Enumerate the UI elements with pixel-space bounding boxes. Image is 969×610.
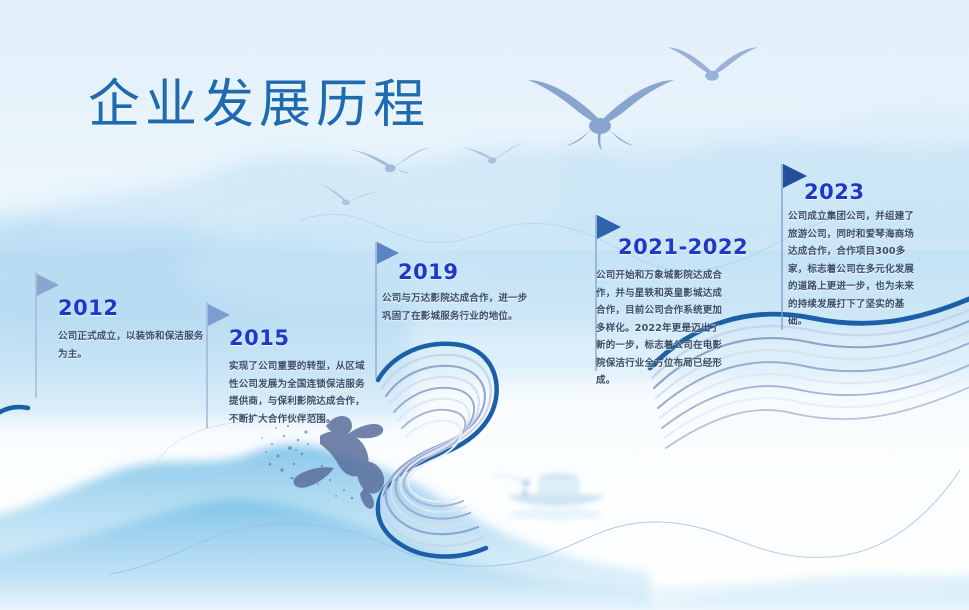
- milestone-desc-2021-2022: 公司开始和万象城影院达成合作，并与星轶和英皇影城达成合作，目前公司合作系统更加多…: [596, 267, 729, 390]
- milestone-desc-2015: 实现了公司重要的转型，从区域性公司发展为全国连锁保洁服务提供商，与保利影院达成合…: [229, 358, 369, 428]
- milestone-desc-2019: 公司与万达影院达成合作，进一步巩固了在影城服务行业的地位。: [382, 290, 532, 325]
- milestone-year-2015: 2015: [229, 326, 289, 350]
- milestone-desc-2023: 公司成立集团公司，并组建了旅游公司，同时和爱琴海商场达成合作，合作项目300多家…: [788, 208, 918, 331]
- poster-canvas: 2012 公司正式成立，以装饰和保洁服务为主。 2015 实现了公司重要的转型，…: [0, 0, 969, 610]
- milestone-year-2019: 2019: [398, 260, 458, 284]
- milestone-desc-2012: 公司正式成立，以装饰和保洁服务为主。: [58, 328, 208, 363]
- milestone-year-2012: 2012: [58, 296, 118, 320]
- milestone-year-2021-2022: 2021-2022: [618, 235, 748, 259]
- page-title: 企业发展历程: [88, 62, 430, 137]
- milestone-year-2023: 2023: [804, 180, 864, 204]
